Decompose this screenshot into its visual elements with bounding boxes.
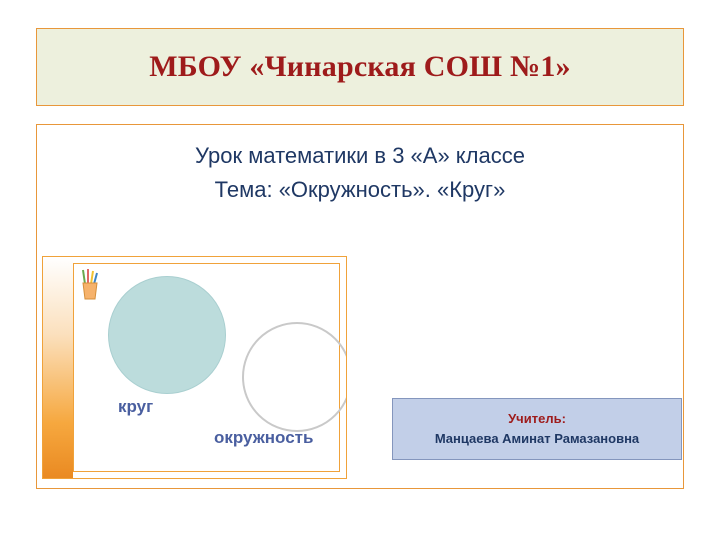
illustration-canvas: круг окружность: [73, 263, 340, 472]
subtitle-line-2: Тема: «Окружность». «Круг»: [37, 173, 683, 207]
teacher-credit-box: Учитель: Манцаева Аминат Рамазановна: [392, 398, 682, 460]
outline-circle-shape: [242, 322, 347, 432]
label-krug: круг: [118, 397, 153, 417]
teacher-role-label: Учитель:: [508, 409, 566, 429]
subtitle-line-1: Урок математики в 3 «А» классе: [37, 139, 683, 173]
subtitle-block: Урок математики в 3 «А» классе Тема: «Ок…: [37, 139, 683, 207]
slide-title-box: МБОУ «Чинарская СОШ №1»: [36, 28, 684, 106]
illustration-side-gradient: [43, 257, 73, 478]
illustration-circle-vs-circumference: круг окружность: [42, 256, 347, 479]
pencil-cup-icon: [79, 268, 101, 302]
presentation-slide: МБОУ «Чинарская СОШ №1» Урок математики …: [0, 0, 720, 540]
label-okruzhnost: окружность: [214, 428, 313, 448]
filled-circle-shape: [108, 276, 226, 394]
page-title: МБОУ «Чинарская СОШ №1»: [149, 50, 570, 84]
slide-body-box: Урок математики в 3 «А» классе Тема: «Ок…: [36, 124, 684, 489]
teacher-name: Манцаева Аминат Рамазановна: [435, 429, 639, 449]
